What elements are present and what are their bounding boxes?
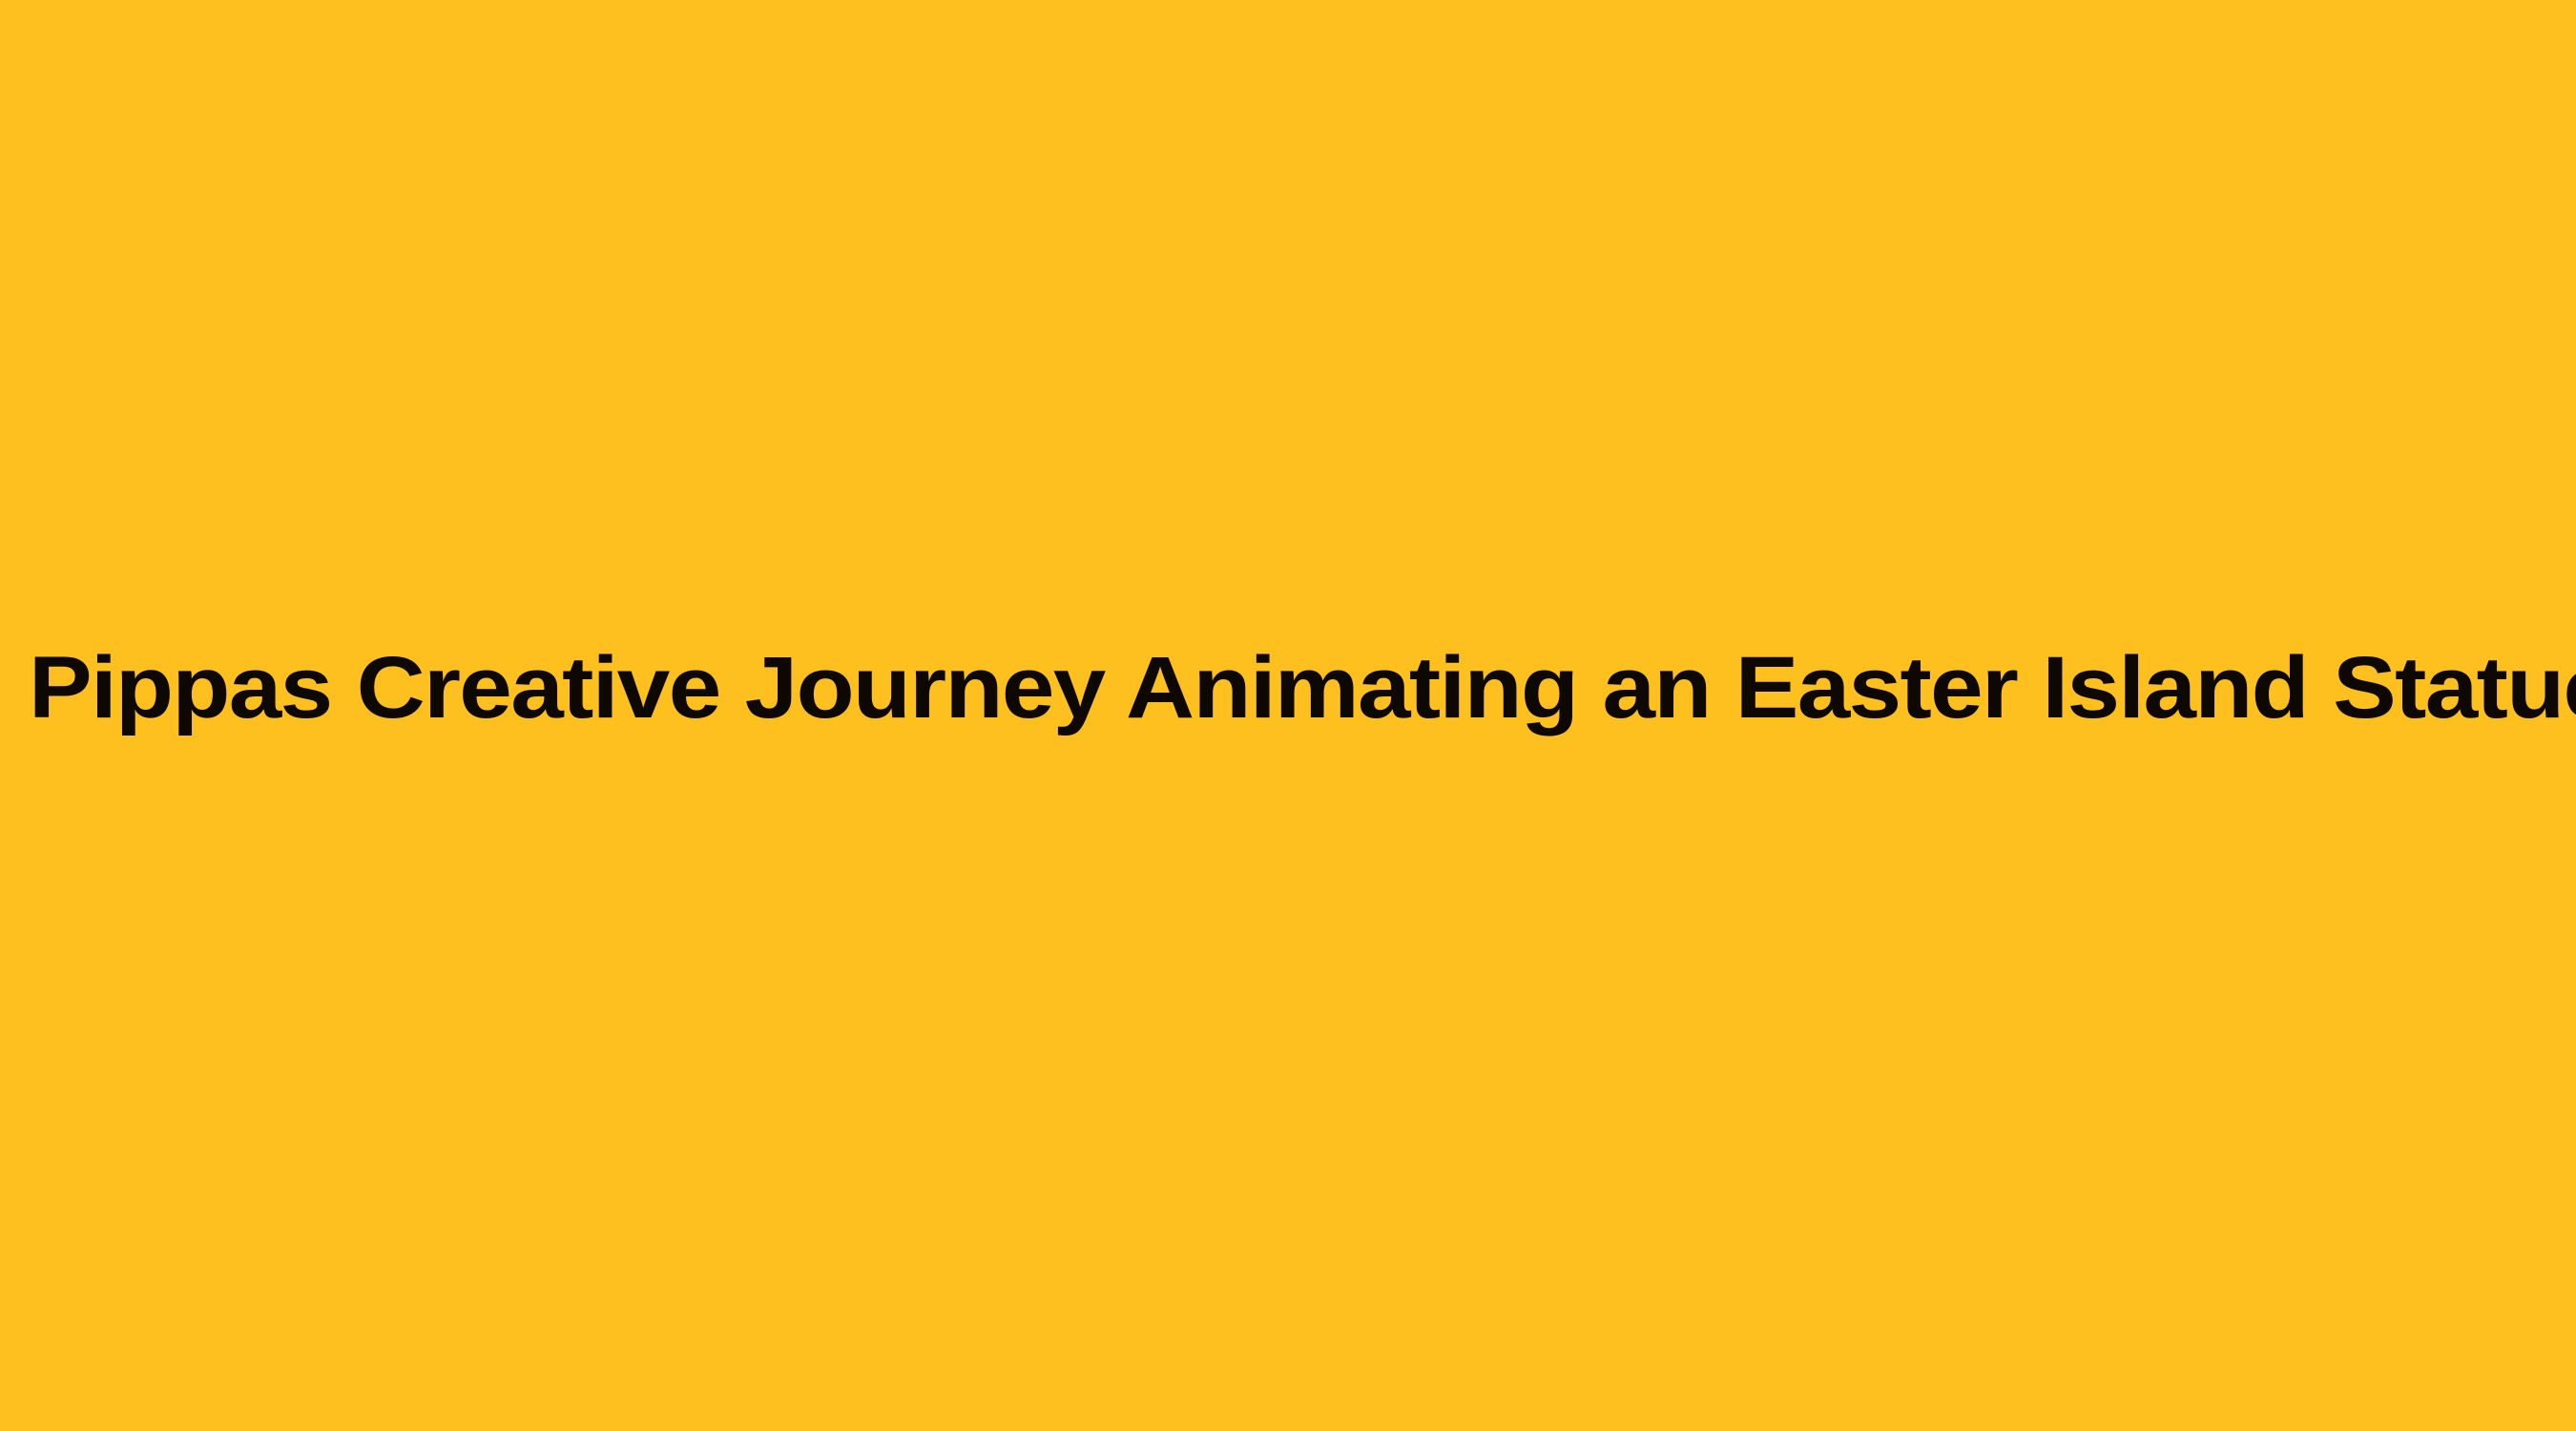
headline-container: Pippas Creative Journey Animating an Eas… bbox=[29, 0, 2547, 1431]
title-banner: Pippas Creative Journey Animating an Eas… bbox=[0, 0, 2576, 1431]
page-title: Pippas Creative Journey Animating an Eas… bbox=[29, 644, 2576, 732]
